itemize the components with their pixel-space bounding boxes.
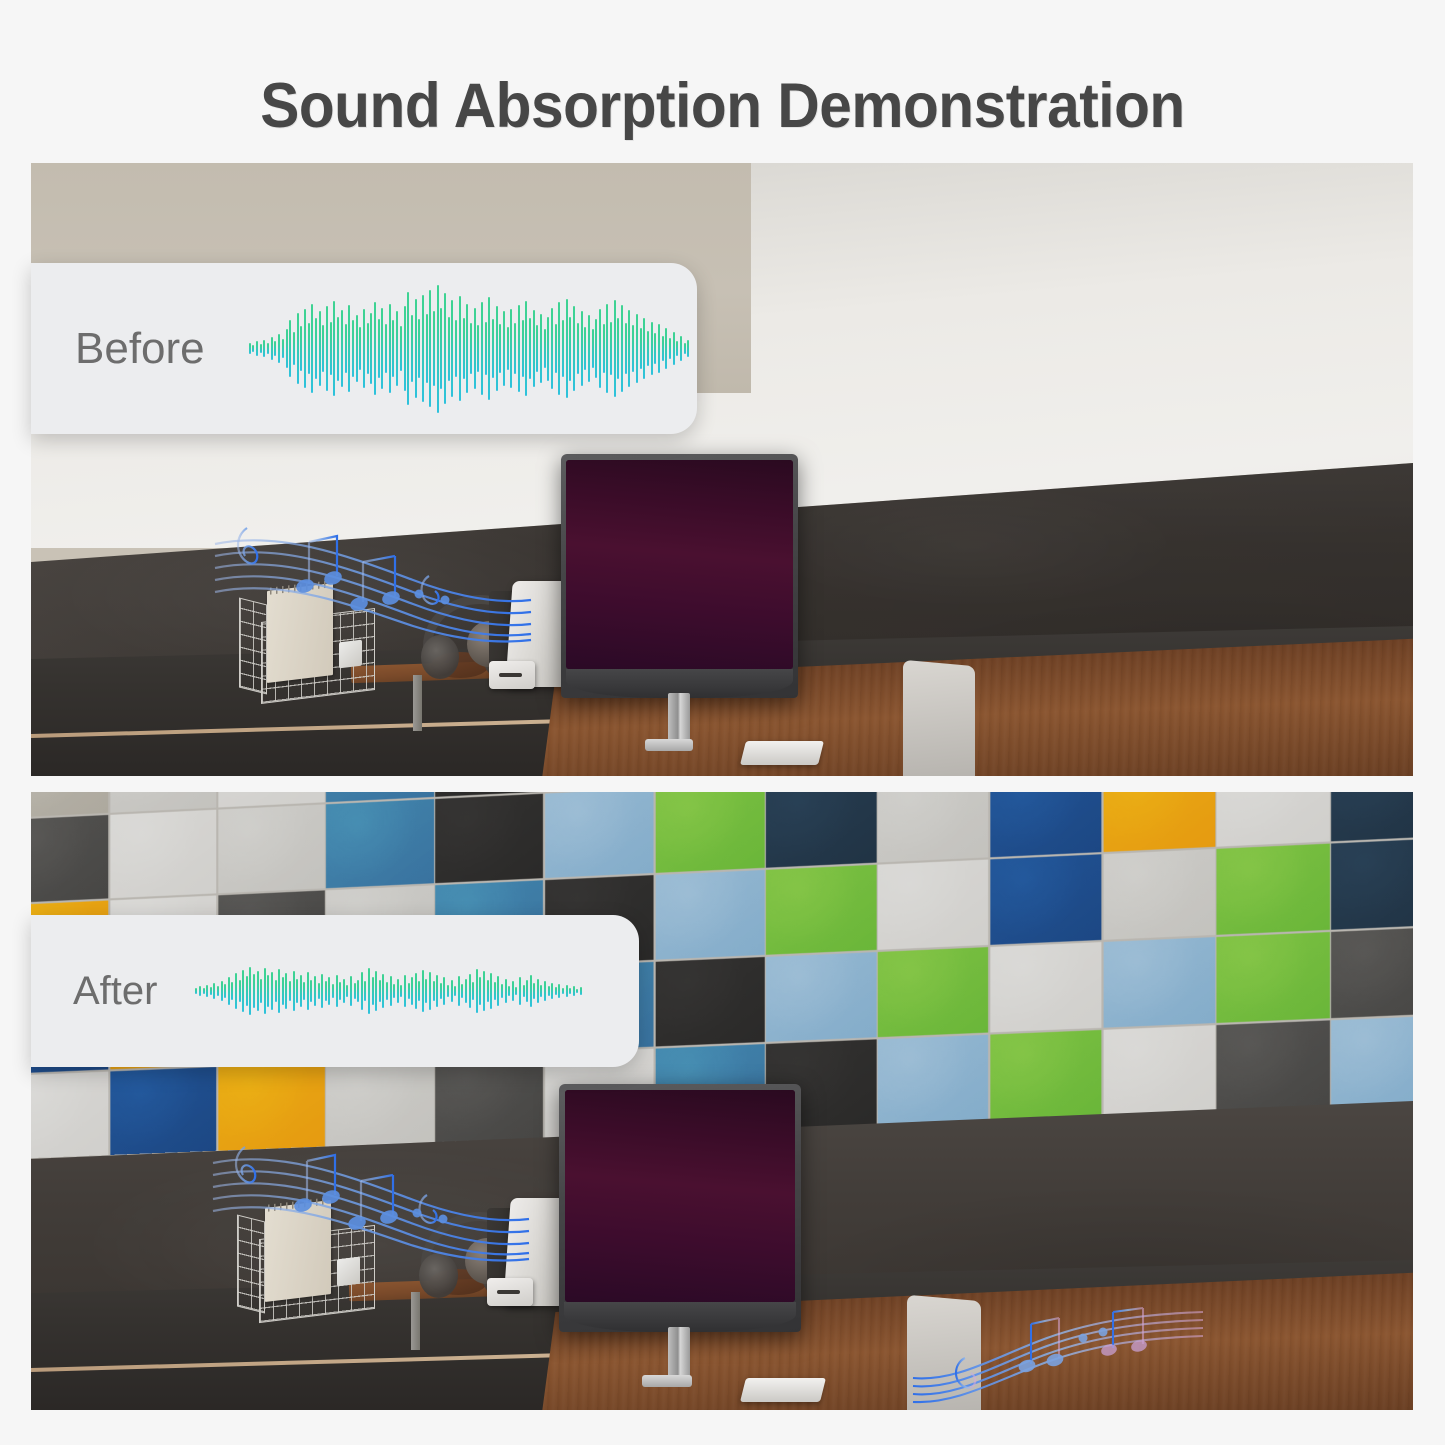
equalizer-column xyxy=(620,657,626,669)
waveform-bar xyxy=(581,311,583,385)
waveform-bar xyxy=(499,324,501,373)
waveform-bar xyxy=(321,974,323,1007)
acoustic-panel-tile xyxy=(1332,926,1413,1018)
acoustic-panel-tile xyxy=(545,792,654,878)
waveform-bar xyxy=(651,322,653,376)
waveform-bar xyxy=(665,328,667,369)
waveform-bar xyxy=(354,983,356,1000)
waveform-bar xyxy=(361,972,363,1009)
waveform-bar xyxy=(242,970,244,1012)
waveform-bar xyxy=(507,327,509,371)
chair-back-after xyxy=(907,1295,981,1410)
equalizer-column xyxy=(687,648,693,669)
waveform-bar xyxy=(326,306,328,390)
waveform-bar xyxy=(479,977,481,1004)
waveform-bar xyxy=(494,982,496,1001)
waveform-bar xyxy=(271,337,273,360)
waveform-bar xyxy=(404,975,406,1006)
waveform-bar xyxy=(523,985,525,997)
equalizer-column xyxy=(673,651,679,669)
acoustic-panel-tile xyxy=(767,864,877,954)
waveform-bar xyxy=(378,319,380,378)
equalizer-column xyxy=(693,657,699,669)
equalizer-column xyxy=(647,1289,653,1303)
riser-leg xyxy=(413,675,422,731)
equalizer-column xyxy=(789,1275,795,1302)
equalizer-column xyxy=(567,657,573,669)
equalizer-column xyxy=(620,1290,626,1302)
waveform-bar xyxy=(343,979,345,1004)
waveform-bar xyxy=(256,341,258,355)
equalizer-column xyxy=(681,1284,687,1302)
waveform-bar xyxy=(643,318,645,379)
keyboard-after xyxy=(740,1378,826,1402)
waveform-bar xyxy=(448,317,450,381)
waveform-bar xyxy=(275,980,277,1003)
after-waveform xyxy=(195,915,583,1067)
waveform-bar xyxy=(606,304,608,394)
waveform-bar xyxy=(336,975,338,1006)
waveform-bar xyxy=(210,987,212,995)
waveform-bar xyxy=(614,300,616,397)
waveform-bar xyxy=(669,338,671,358)
waveform-bar xyxy=(466,304,468,394)
waveform-bar xyxy=(472,982,474,1001)
scene-after xyxy=(31,792,1413,1410)
equalizer-column xyxy=(782,1278,788,1302)
before-label-card: Before xyxy=(31,263,697,434)
equalizer-column xyxy=(660,1295,666,1303)
acoustic-panel-tile xyxy=(656,869,765,959)
acoustic-panel-tile xyxy=(991,1029,1102,1120)
waveform-bar xyxy=(488,297,490,399)
waveform-bar xyxy=(501,984,503,999)
waveform-bar xyxy=(558,984,560,998)
waveform-bar xyxy=(632,325,634,371)
waveform-bar xyxy=(463,318,465,379)
waveform-bar xyxy=(252,345,254,353)
equalizer-column xyxy=(741,1286,747,1303)
waveform-bar xyxy=(526,980,528,1003)
waveform-bar xyxy=(348,305,350,392)
waveform-bar xyxy=(658,324,660,373)
waveform-bar xyxy=(407,292,409,405)
waveform-bar xyxy=(368,968,370,1014)
waveform-bar xyxy=(461,984,463,999)
acoustic-panel-tile xyxy=(1104,792,1216,852)
acoustic-panel-tile xyxy=(1104,848,1216,939)
waveform-bar xyxy=(396,311,398,385)
equalizer-column xyxy=(720,651,726,669)
waveform-bar xyxy=(195,988,197,994)
waveform-bar xyxy=(330,322,332,376)
waveform-bar xyxy=(515,987,517,995)
waveform-bar xyxy=(249,343,251,353)
waveform-bar xyxy=(328,977,330,1004)
waveform-bar xyxy=(512,981,514,1002)
waveform-bar xyxy=(332,984,334,999)
waveform-bar xyxy=(577,323,579,374)
waveform-bar xyxy=(271,972,273,1009)
waveform-bar xyxy=(322,325,324,371)
waveform-bar xyxy=(490,973,492,1008)
equalizer-visualization xyxy=(566,460,792,668)
waveform-bar xyxy=(217,986,219,996)
waveform-bar xyxy=(459,296,461,401)
waveform-bar xyxy=(647,331,649,367)
waveform-bar xyxy=(359,327,361,369)
equalizer-column xyxy=(769,1274,775,1303)
waveform-bar xyxy=(519,977,521,1004)
acoustic-panel-tile xyxy=(436,793,544,883)
waveform-bar xyxy=(300,326,302,371)
waveform-bar xyxy=(551,983,553,1000)
acoustic-panel-tile xyxy=(1217,792,1330,847)
chair-back xyxy=(903,660,975,776)
waveform-bar xyxy=(304,309,306,388)
waveform-bar xyxy=(496,306,498,390)
waveform-bar xyxy=(595,319,597,378)
waveform-bar xyxy=(525,301,527,396)
equalizer-column xyxy=(779,645,785,669)
equalizer-column xyxy=(721,1284,727,1302)
waveform-bar xyxy=(364,981,366,1002)
acoustic-panel-tile xyxy=(1217,931,1330,1022)
waveform-bar xyxy=(274,341,276,356)
waveform-bar xyxy=(628,310,630,387)
acoustic-panel-tile xyxy=(1104,1024,1216,1115)
waveform-bar xyxy=(485,322,487,376)
waveform-bar xyxy=(318,983,320,1000)
acoustic-panel-tile xyxy=(991,854,1102,945)
waveform-bar xyxy=(289,320,291,376)
waveform-bar xyxy=(465,979,467,1004)
waveform-bar xyxy=(497,976,499,1005)
curved-monitor xyxy=(561,454,798,698)
equalizer-column xyxy=(614,660,620,669)
waveform-bar xyxy=(333,301,335,396)
monitor-screen-after xyxy=(565,1090,796,1302)
equalizer-column xyxy=(700,660,706,669)
acoustic-panel-tile xyxy=(327,798,434,888)
equalizer-column xyxy=(654,661,660,669)
equalizer-column xyxy=(587,652,593,669)
waveform-bar xyxy=(260,979,262,1004)
waveform-bar xyxy=(429,972,431,1009)
equalizer-column xyxy=(566,1290,572,1302)
acoustic-panel-tile xyxy=(31,1071,109,1159)
waveform-bar xyxy=(393,984,395,999)
waveform-bar xyxy=(408,983,410,1000)
waveform-bar xyxy=(382,974,384,1007)
waveform-bar xyxy=(357,980,359,1003)
waveform-bar xyxy=(422,970,424,1012)
waveform-bar xyxy=(673,332,675,365)
equalizer-column xyxy=(708,1286,714,1303)
waveform-bar xyxy=(389,304,391,394)
waveform-bar xyxy=(415,299,417,399)
waveform-bar xyxy=(422,295,424,403)
equalizer-column xyxy=(694,1290,700,1302)
acoustic-panel-tile xyxy=(767,951,877,1041)
equalizer-column xyxy=(733,637,739,669)
waveform-bar xyxy=(381,308,383,390)
waveform-bar xyxy=(476,969,478,1013)
waveform-bar xyxy=(458,976,460,1005)
waveform-bar xyxy=(392,320,394,376)
waveform-bar xyxy=(662,336,664,362)
waveform-bar xyxy=(522,320,524,376)
waveform-bar xyxy=(293,332,295,365)
acoustic-panel-tile xyxy=(1332,1015,1413,1106)
waveform-bar xyxy=(339,982,341,1001)
waveform-bar xyxy=(411,977,413,1004)
equalizer-column xyxy=(762,1287,768,1302)
waveform-bar xyxy=(477,325,479,371)
waveform-bar xyxy=(470,323,472,374)
waveform-bar xyxy=(379,980,381,1003)
equalizer-column xyxy=(726,637,732,669)
equalizer-column xyxy=(748,1283,754,1303)
small-desk-box-after xyxy=(337,1257,360,1287)
waveform-bar xyxy=(533,310,535,387)
waveform-bar xyxy=(267,975,269,1006)
waveform-bar xyxy=(684,343,686,355)
waveform-bar xyxy=(367,323,369,374)
equalizer-column xyxy=(660,661,666,669)
equalizer-column xyxy=(579,1290,585,1302)
waveform-bar xyxy=(636,314,638,383)
waveform-bar xyxy=(469,974,471,1007)
waveform-bar xyxy=(555,324,557,373)
waveform-bar xyxy=(514,323,516,374)
waveform-bar xyxy=(224,984,226,999)
waveform-bar xyxy=(536,325,538,371)
waveform-bar xyxy=(352,320,354,378)
after-label-card: After xyxy=(31,915,639,1067)
equalizer-column xyxy=(626,1281,632,1302)
waveform-bar xyxy=(566,299,568,399)
waveform-bar xyxy=(487,980,489,1003)
waveform-bar xyxy=(443,977,445,1004)
equalizer-column xyxy=(640,1292,646,1303)
waveform-bar xyxy=(415,973,417,1008)
waveform-bar xyxy=(199,986,201,995)
waveform-bar xyxy=(687,340,689,358)
riser-leg-after xyxy=(411,1292,420,1350)
waveform-bar xyxy=(286,329,288,367)
waveform-bar xyxy=(555,987,557,994)
waveform-bar xyxy=(386,982,388,1001)
monitor-stand-neck xyxy=(668,693,690,743)
waveform-bar xyxy=(540,314,542,383)
waveform-bar xyxy=(231,982,233,1001)
waveform-bar xyxy=(310,980,312,1003)
acoustic-panel-tile xyxy=(656,792,765,873)
waveform-bar xyxy=(372,977,374,1004)
equalizer-column xyxy=(607,658,613,669)
acoustic-panel-tile xyxy=(991,792,1102,857)
waveform-bar xyxy=(573,306,575,390)
acoustic-panel-tile xyxy=(110,1066,216,1154)
equalizer-column xyxy=(613,1293,619,1302)
acoustic-panel-tile xyxy=(878,859,989,950)
acoustic-panel-tile xyxy=(878,946,989,1036)
waveform-bar xyxy=(451,980,453,1003)
monitor-stand-base-after xyxy=(642,1375,692,1387)
waveform-bar xyxy=(397,979,399,1004)
equalizer-column xyxy=(713,654,719,669)
waveform-bar xyxy=(341,310,343,387)
waveform-bar xyxy=(203,988,205,993)
spiral-notebook xyxy=(267,583,333,683)
equalizer-column xyxy=(627,648,633,669)
monitor-screen xyxy=(566,460,792,668)
waveform-bar xyxy=(444,293,446,403)
equalizer-column xyxy=(654,1295,660,1303)
waveform-bar xyxy=(529,318,531,379)
waveform-bar xyxy=(483,971,485,1011)
waveform-bar xyxy=(610,322,612,376)
waveform-bar xyxy=(319,311,321,385)
acoustic-panel-tile xyxy=(1332,838,1413,930)
waveform-bar xyxy=(530,975,532,1006)
waveform-bar xyxy=(569,317,571,381)
waveform-bar xyxy=(508,986,510,996)
acoustic-panel-tile xyxy=(327,1057,434,1146)
equalizer-column xyxy=(773,640,779,669)
waveform-bar xyxy=(314,976,316,1005)
dock-station xyxy=(489,661,535,689)
waveform-bar xyxy=(569,988,571,993)
waveform-bar xyxy=(411,315,413,382)
acoustic-panel-tile xyxy=(1332,792,1413,841)
infographic-root: Sound Absorption Demonstration xyxy=(0,0,1445,1445)
waveform-bar xyxy=(253,974,255,1007)
equalizer-column xyxy=(775,1274,781,1303)
waveform-bar xyxy=(267,343,269,355)
acoustic-panel-tile xyxy=(767,792,877,868)
equalizer-column xyxy=(707,652,713,669)
waveform-bar xyxy=(315,318,317,379)
equalizer-column xyxy=(740,652,746,669)
panel-before xyxy=(31,163,1413,776)
waveform-bar xyxy=(537,979,539,1004)
equalizer-column xyxy=(640,658,646,669)
waveform-bar xyxy=(278,334,280,362)
waveform-bar xyxy=(337,317,339,381)
equalizer-column xyxy=(667,1283,673,1303)
waveform-bar xyxy=(455,320,457,376)
waveform-bar xyxy=(404,306,406,390)
acoustic-panel-tile xyxy=(991,941,1102,1032)
keyboard xyxy=(740,741,824,765)
acoustic-panel-tile xyxy=(31,792,109,818)
waveform-bar xyxy=(562,320,564,376)
equalizer-column xyxy=(634,654,640,669)
waveform-bar xyxy=(418,981,420,1002)
waveform-bar xyxy=(518,305,520,392)
equalizer-column xyxy=(593,1295,599,1303)
waveform-bar xyxy=(573,986,575,995)
equalizer-column xyxy=(647,655,653,669)
waveform-bar xyxy=(282,339,284,358)
acoustic-panel-tile xyxy=(878,1034,989,1124)
waveform-bar xyxy=(296,979,298,1004)
waveform-bar xyxy=(285,973,287,1008)
waveform-bar xyxy=(433,981,435,1002)
waveform-bar xyxy=(300,975,302,1006)
waveform-bar xyxy=(474,308,476,390)
waveform-bar xyxy=(492,319,494,378)
equalizer-column xyxy=(586,1286,592,1303)
equalizer-column xyxy=(728,1271,734,1303)
waveform-bar xyxy=(257,971,259,1011)
monitor-stand-neck-after xyxy=(668,1327,690,1379)
waveform-bar xyxy=(303,982,305,1001)
waveform-bar xyxy=(249,967,251,1015)
equalizer-column xyxy=(735,1271,741,1303)
acoustic-panel-tile xyxy=(110,809,216,898)
waveform-bar xyxy=(426,314,428,383)
waveform-bar xyxy=(246,976,248,1005)
equalizer-column xyxy=(674,1284,680,1302)
waveform-bar xyxy=(599,309,601,388)
waveform-bar xyxy=(433,311,435,385)
acoustic-panel-tile xyxy=(1104,936,1216,1027)
waveform-bar xyxy=(603,324,605,373)
equalizer-column xyxy=(667,649,673,669)
equalizer-column xyxy=(760,654,766,669)
waveform-bar xyxy=(454,986,456,996)
waveform-bar xyxy=(566,985,568,996)
small-desk-box xyxy=(339,640,362,669)
waveform-bar xyxy=(390,976,392,1005)
waveform-bar xyxy=(440,983,442,1000)
waveform-bar xyxy=(551,308,553,390)
waveform-bar xyxy=(239,980,241,1003)
equalizer-column xyxy=(753,655,759,669)
waveform-bar xyxy=(213,983,215,1000)
waveform-bar xyxy=(440,308,442,390)
monitor-stand-base xyxy=(645,739,693,751)
waveform-bar xyxy=(293,971,295,1011)
waveform-bar xyxy=(436,975,438,1006)
waveform-bar xyxy=(576,989,578,993)
waveform-bar xyxy=(540,985,542,997)
after-label: After xyxy=(73,969,157,1014)
curved-monitor-after xyxy=(559,1084,801,1332)
acoustic-panel-tile xyxy=(218,804,325,893)
waveform-bar xyxy=(654,333,656,364)
equalizer-column xyxy=(766,640,772,669)
waveform-bar xyxy=(562,988,564,994)
equalizer-column xyxy=(680,651,686,669)
waveform-bar xyxy=(640,328,642,369)
waveform-bar xyxy=(374,302,376,394)
waveform-bar xyxy=(451,300,453,397)
waveform-bar xyxy=(346,985,348,997)
waveform-bar xyxy=(584,327,586,371)
waveform-bar xyxy=(503,311,505,385)
equalizer-column xyxy=(746,649,752,669)
dock-station-after xyxy=(487,1278,533,1306)
equalizer-column xyxy=(714,1287,720,1302)
waveform-bar xyxy=(350,976,352,1005)
equalizer-column xyxy=(572,1290,578,1302)
waveform-bar xyxy=(533,983,535,1000)
waveform-bar xyxy=(676,341,678,356)
